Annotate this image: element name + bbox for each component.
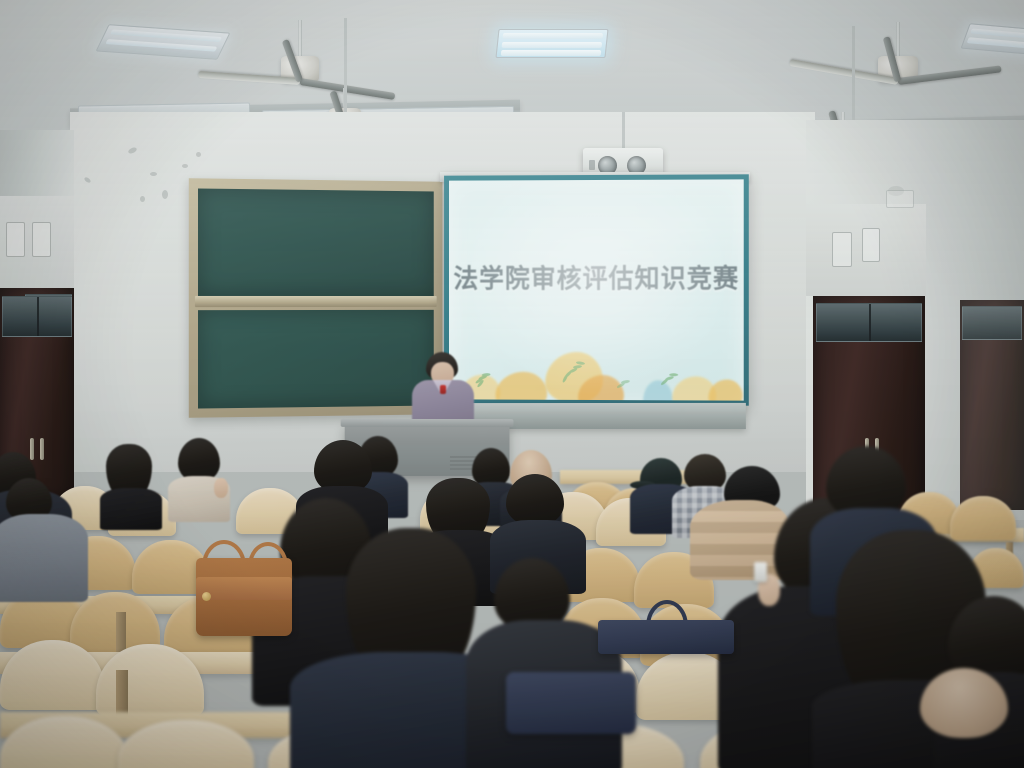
wall-sign <box>6 222 25 257</box>
lecture-hall-photo: 法学院审核评估知识竞赛 <box>0 0 1024 768</box>
wall-mark <box>162 190 168 199</box>
attendee-masked <box>0 478 86 596</box>
phone-icon <box>754 562 767 582</box>
wall-mark <box>182 164 188 168</box>
wall-mark <box>196 152 201 157</box>
leaf-icon <box>475 368 501 394</box>
presenter-badge <box>440 385 446 394</box>
fluorescent-light-icon <box>495 29 608 58</box>
door-far-right[interactable] <box>960 300 1024 510</box>
presentation-slide: 法学院审核评估知识竞赛 <box>449 179 744 400</box>
attendee-foreground-bag <box>466 558 616 768</box>
projector-vent <box>589 160 595 170</box>
wall-mark <box>140 196 145 202</box>
projector-mount-wire <box>622 112 625 150</box>
leaf-icon <box>660 367 686 393</box>
projection-screen: 法学院审核评估知识竞赛 <box>444 174 749 405</box>
blackboard-panel-upper <box>198 188 434 296</box>
slide-title: 法学院审核评估知识竞赛 <box>449 258 744 296</box>
attendee <box>168 438 230 514</box>
wall-sign <box>32 222 51 257</box>
attendee <box>100 444 162 518</box>
wall-sign <box>886 190 914 208</box>
blackboard-panel-lower <box>198 310 434 409</box>
leaf-icon <box>563 358 593 388</box>
wall-mark <box>150 172 157 176</box>
black-bag <box>506 672 636 734</box>
blackboard-chalk-rail <box>195 296 437 307</box>
slide-decoration <box>449 325 744 401</box>
wall-sign <box>832 232 852 267</box>
leaf-icon <box>616 374 638 396</box>
blackboard <box>189 178 443 418</box>
wall-sign <box>862 228 880 262</box>
attendee <box>900 668 1024 768</box>
podium-top <box>341 419 514 427</box>
ceiling-fan-icon <box>790 22 1005 112</box>
